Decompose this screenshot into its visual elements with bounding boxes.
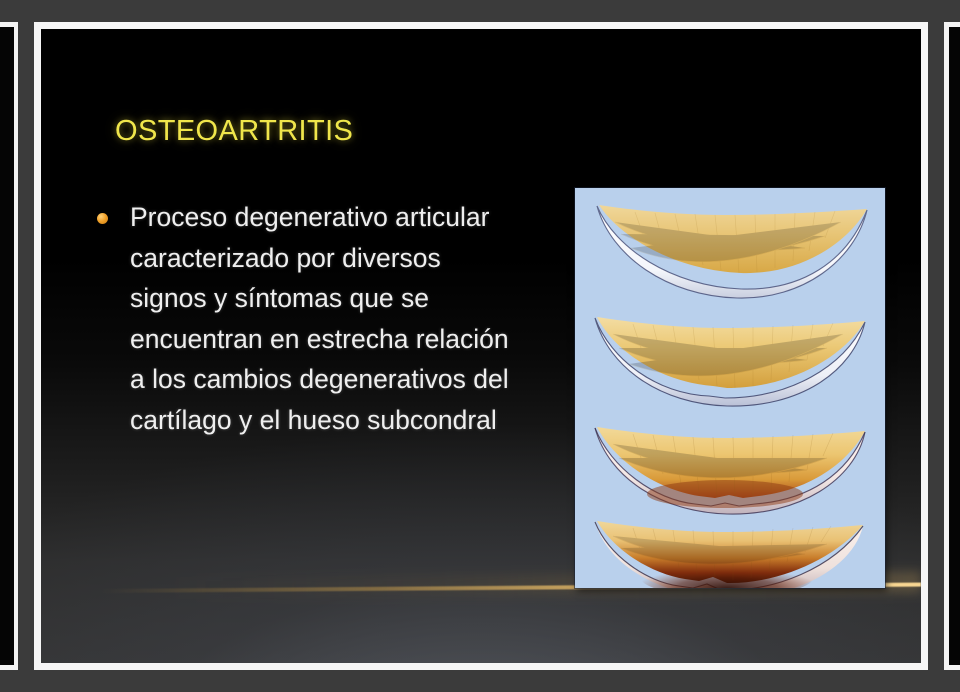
bullet-list: Proceso degenerativo articular caracteri… — [97, 197, 517, 440]
stage-3-fibrillation — [575, 416, 885, 522]
list-item: Proceso degenerativo articular caracteri… — [97, 197, 517, 440]
stage-1-normal — [575, 196, 885, 304]
bullet-text: Proceso degenerativo articular caracteri… — [130, 197, 517, 440]
current-slide[interactable]: OSTEOARTRITIS Proceso degenerativo artic… — [34, 22, 928, 670]
stage-2-thinning — [575, 306, 885, 416]
previous-slide-partial[interactable] — [0, 22, 18, 670]
next-slide-partial[interactable] — [944, 22, 960, 670]
bullet-dot-icon — [97, 213, 108, 224]
slide-title: OSTEOARTRITIS — [115, 115, 353, 148]
slideshow-viewer: OSTEOARTRITIS Proceso degenerativo artic… — [0, 0, 960, 692]
stage-4-bone-exposure — [575, 508, 885, 588]
osteoarthritis-stages-image — [575, 188, 885, 588]
